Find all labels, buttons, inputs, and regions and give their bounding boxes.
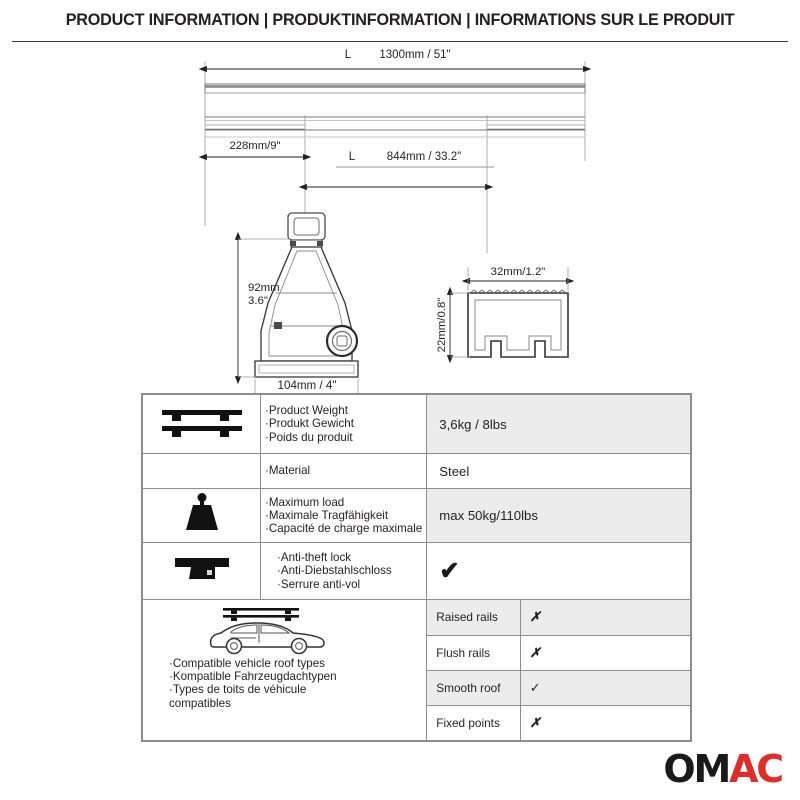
label-line: ·Compatible vehicle roof types <box>169 657 369 670</box>
roof-type-mark: ✗ <box>520 635 690 670</box>
roof-type-name: Raised rails <box>427 600 520 635</box>
label-line: ·Types de toits de véhicule compatibles <box>169 683 369 710</box>
roof-types-label-cell: ·Compatible vehicle roof types ·Kompatib… <box>143 600 427 741</box>
max-load-label-cell: ·Maximum load ·Maximale Tragfähigkeit ·C… <box>261 489 427 543</box>
foot-height-value-line2: 3.6" <box>248 295 268 307</box>
roof-type-mark: ✗ <box>520 600 690 635</box>
max-load-value: max 50kg/110lbs <box>427 489 691 543</box>
material-icon-cell <box>143 454 261 489</box>
rail-top-view-icon <box>205 84 585 93</box>
material-value: Steel <box>427 454 691 489</box>
car-with-roof-bars-icon <box>201 605 331 662</box>
second-view-span-symbol: L <box>349 151 356 163</box>
product-weight-icon-cell <box>143 395 261 454</box>
label-line: ·Anti-Diebstahlschloss <box>277 564 422 577</box>
cross-mark-icon: ✗ <box>530 645 541 660</box>
check-mark-icon: ✔ <box>440 559 460 584</box>
page-header: PRODUCT INFORMATION | PRODUKTINFORMATION… <box>0 0 800 41</box>
logo-text-dark: OM <box>663 747 729 791</box>
roof-type-name: Fixed points <box>427 705 520 740</box>
cross-mark-icon: ✗ <box>530 609 541 624</box>
page-title: PRODUCT INFORMATION | PRODUKTINFORMATION… <box>66 11 735 30</box>
label-line: ·Serrure anti-vol <box>277 578 422 591</box>
omac-logo: OMAC <box>663 750 782 788</box>
product-weight-value: 3,6kg / 8lbs <box>427 395 691 454</box>
top-view-dimension-value: 1300mm / 51" <box>379 49 450 61</box>
logo-text-red: AC <box>729 747 782 791</box>
anti-theft-value-cell: ✔ <box>427 543 691 600</box>
technical-drawing-area: L 1300mm / 51" 228mm/9" L 844mm / 33.2" <box>0 41 800 393</box>
label-line: ·Capacité de charge maximale <box>265 522 422 535</box>
roof-type-row: Flush rails ✗ <box>427 635 690 670</box>
label-line: ·Kompatible Fahrzeugdachtypen <box>169 670 369 683</box>
roof-types-labels: ·Compatible vehicle roof types ·Kompatib… <box>169 657 369 711</box>
profile-height-value: 22mm/0.8" <box>436 298 448 353</box>
table-row: ·Compatible vehicle roof types ·Kompatib… <box>143 600 691 741</box>
roof-type-mark: ✓ <box>520 670 690 705</box>
label-line: ·Product Weight <box>265 404 422 417</box>
cross-mark-icon: ✗ <box>530 715 541 730</box>
foot-height-value-line1: 92mm <box>248 282 280 294</box>
label-line: ·Poids du produit <box>265 431 422 444</box>
crossbar-pair-icon <box>158 429 246 446</box>
padlock-icon <box>169 573 235 590</box>
roof-types-matrix: Raised rails ✗ Flush rails ✗ Smooth roof… <box>427 600 691 741</box>
profile-height-dimension <box>450 293 470 357</box>
roof-type-name: Smooth roof <box>427 670 520 705</box>
top-view-dimension-symbol: L <box>345 49 352 61</box>
label-line: ·Maximale Tragfähigkeit <box>265 509 422 522</box>
rail-side-view-icon <box>205 115 585 253</box>
roof-type-row: Raised rails ✗ <box>427 600 690 635</box>
roof-type-row: Fixed points ✗ <box>427 705 690 740</box>
label-line: ·Material <box>265 464 422 477</box>
anti-theft-icon-cell <box>143 543 261 600</box>
foot-width-value: 104mm / 4" <box>278 379 337 392</box>
table-row: ·Anti-theft lock ·Anti-Diebstahlschloss … <box>143 543 691 600</box>
max-load-icon-cell <box>143 489 261 543</box>
roof-type-name: Flush rails <box>427 635 520 670</box>
check-mark-icon: ✓ <box>530 680 541 695</box>
second-view-span-value: 844mm / 33.2" <box>387 151 461 163</box>
material-label-cell: ·Material <box>261 454 427 489</box>
roof-rack-foot-front-view-icon <box>255 213 358 377</box>
table-row: ·Material Steel <box>143 454 691 489</box>
weight-kettlebell-icon <box>177 521 227 538</box>
anti-theft-label-cell: ·Anti-theft lock ·Anti-Diebstahlschloss … <box>261 543 427 600</box>
roof-type-row: Smooth roof ✓ <box>427 670 690 705</box>
specification-table: ·Product Weight ·Produkt Gewicht ·Poids … <box>141 393 692 742</box>
roof-type-mark: ✗ <box>520 705 690 740</box>
label-line: ·Maximum load <box>265 496 422 509</box>
second-view-left-dimension: 228mm/9" <box>229 140 280 152</box>
label-line: ·Anti-theft lock <box>277 551 422 564</box>
rail-cross-section-icon <box>468 290 568 357</box>
table-row: ·Product Weight ·Produkt Gewicht ·Poids … <box>143 395 691 454</box>
table-row: ·Maximum load ·Maximale Tragfähigkeit ·C… <box>143 489 691 543</box>
label-line: ·Produkt Gewicht <box>265 417 422 430</box>
product-weight-label-cell: ·Product Weight ·Produkt Gewicht ·Poids … <box>261 395 427 454</box>
profile-width-value: 32mm/1.2" <box>491 266 546 278</box>
